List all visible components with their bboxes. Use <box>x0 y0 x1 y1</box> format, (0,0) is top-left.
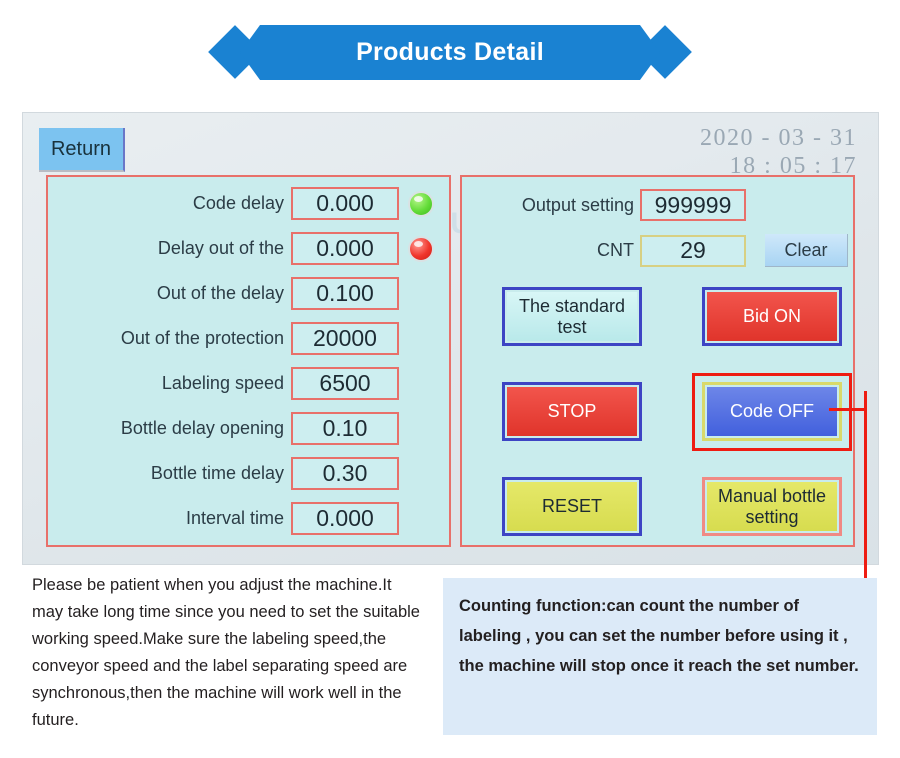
hmi-screen: ZONESUN ZONESUN ZONESUN ZONESUN ZONESUN … <box>22 112 879 565</box>
param-value-input[interactable]: 0.000 <box>291 187 399 220</box>
param-value-input[interactable]: 0.30 <box>291 457 399 490</box>
param-label: Interval time <box>48 508 291 529</box>
clear-button[interactable]: Clear <box>765 234 848 267</box>
standard-test-button-label: The standard test <box>507 292 637 341</box>
stop-button-label: STOP <box>507 387 637 436</box>
param-label: Delay out of the <box>48 238 291 259</box>
page-header-banner: Products Detail <box>0 0 900 105</box>
output-setting-label: Output setting <box>474 195 640 216</box>
clock-display: 2020 - 03 - 31 18 : 05 : 17 <box>700 124 857 180</box>
manual-bottle-setting-button-label: Manual bottle setting <box>707 482 837 531</box>
control-panel: Output setting 999999 CNT 29 Clear The s… <box>460 175 855 547</box>
counter-label: CNT <box>474 240 640 261</box>
date-text: 2020 - 03 - 31 <box>700 124 857 152</box>
code-off-highlight-box <box>692 373 852 451</box>
callout-connector-horizontal <box>829 408 867 411</box>
param-value-input[interactable]: 0.000 <box>291 502 399 535</box>
param-label: Out of the delay <box>48 283 291 304</box>
table-row: Out of the delay 0.100 <box>48 271 451 316</box>
output-setting-row: Output setting 999999 <box>474 189 746 221</box>
page-title: Products Detail <box>240 25 660 80</box>
reset-button[interactable]: RESET <box>502 477 642 536</box>
param-label: Out of the protection <box>48 328 291 349</box>
reset-button-label: RESET <box>507 482 637 531</box>
table-row: Bottle delay opening 0.10 <box>48 406 451 451</box>
table-row: Bottle time delay 0.30 <box>48 451 451 496</box>
counter-row: CNT 29 Clear <box>474 234 848 267</box>
param-label: Labeling speed <box>48 373 291 394</box>
param-label: Bottle delay opening <box>48 418 291 439</box>
table-row: Labeling speed 6500 <box>48 361 451 406</box>
table-row: Code delay 0.000 <box>48 181 451 226</box>
param-value-input[interactable]: 0.000 <box>291 232 399 265</box>
callout-text: Counting function:can count the number o… <box>459 591 861 681</box>
table-row: Interval time 0.000 <box>48 496 451 541</box>
bid-on-button[interactable]: Bid ON <box>702 287 842 346</box>
status-led-red-icon <box>408 236 434 262</box>
param-label: Bottle time delay <box>48 463 291 484</box>
stop-button[interactable]: STOP <box>502 382 642 441</box>
param-value-input[interactable]: 0.100 <box>291 277 399 310</box>
left-note-text: Please be patient when you adjust the ma… <box>32 572 422 734</box>
param-label: Code delay <box>48 193 291 214</box>
param-value-input[interactable]: 0.10 <box>291 412 399 445</box>
table-row: Delay out of the 0.000 <box>48 226 451 271</box>
param-value-input[interactable]: 20000 <box>291 322 399 355</box>
bid-on-button-label: Bid ON <box>707 292 837 341</box>
status-led-green-icon <box>408 191 434 217</box>
parameters-panel: Code delay 0.000 Delay out of the 0.000 … <box>46 175 451 547</box>
return-button[interactable]: Return <box>39 128 125 172</box>
manual-bottle-setting-button[interactable]: Manual bottle setting <box>702 477 842 536</box>
param-value-input[interactable]: 6500 <box>291 367 399 400</box>
counter-value-display[interactable]: 29 <box>640 235 746 267</box>
standard-test-button[interactable]: The standard test <box>502 287 642 346</box>
table-row: Out of the protection 20000 <box>48 316 451 361</box>
output-setting-input[interactable]: 999999 <box>640 189 746 221</box>
callout-connector-vertical <box>864 391 867 583</box>
